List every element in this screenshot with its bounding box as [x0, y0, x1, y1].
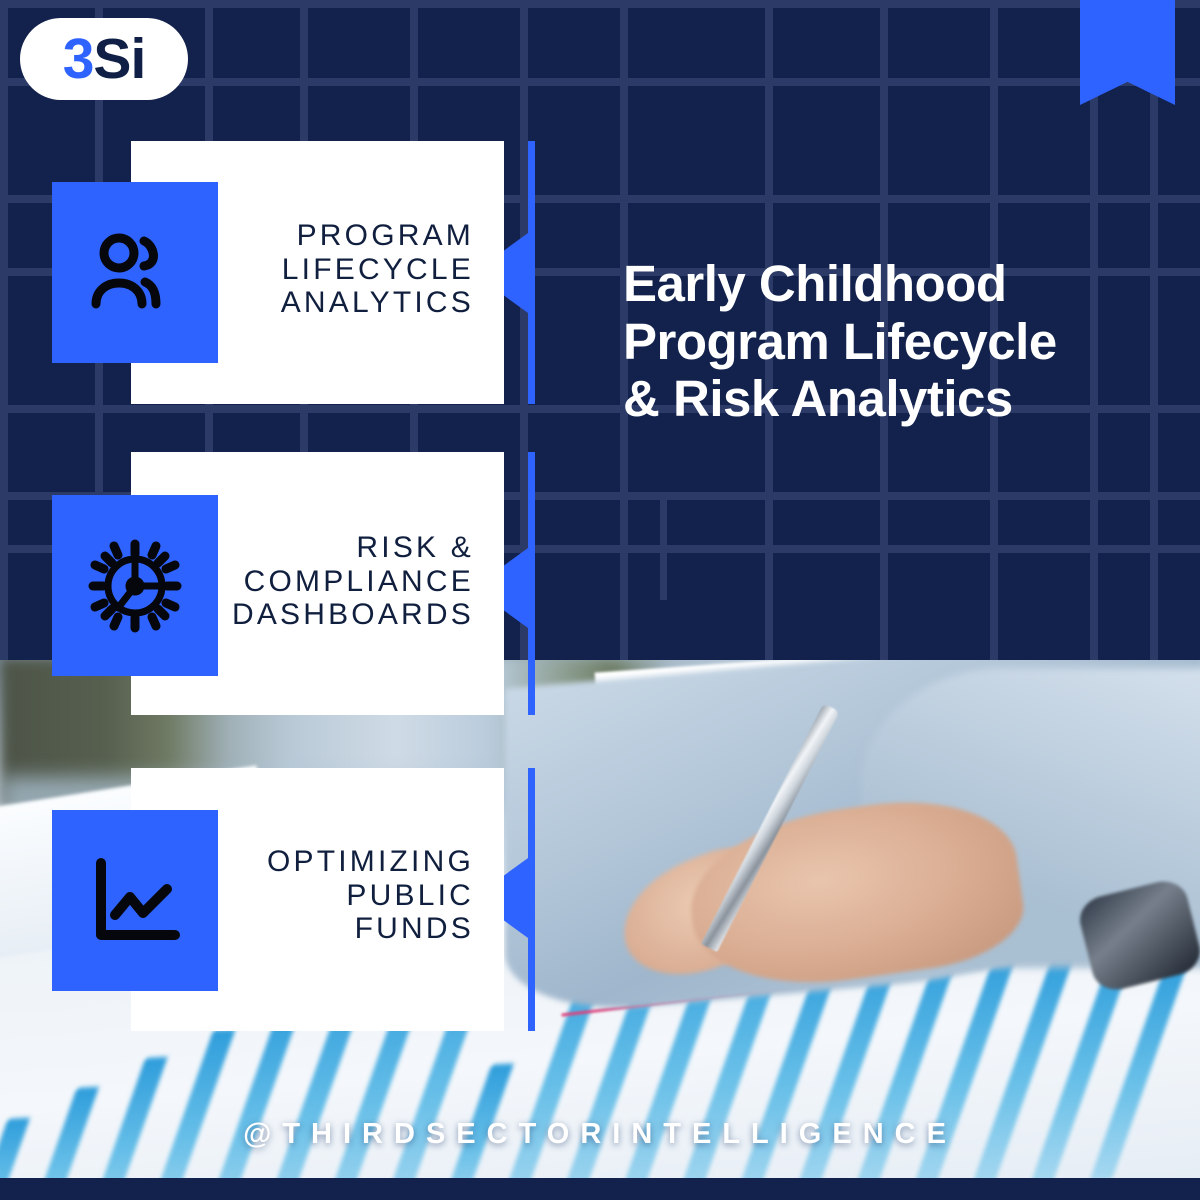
feature-label-3: OPTIMIZING PUBLIC FUNDS: [214, 845, 474, 946]
feature-icon-box-3: [52, 810, 218, 991]
connector-line-1: [528, 141, 535, 404]
infographic-poster: 3Si Early Childhood Program Lifecycle & …: [0, 0, 1200, 1200]
feature-label-2: RISK & COMPLIANCE DASHBOARDS: [194, 531, 474, 632]
bottom-strip: [0, 1178, 1200, 1200]
brand-logo[interactable]: 3Si: [20, 18, 188, 100]
connector-line-3: [528, 768, 535, 1031]
connector-line-2: [528, 452, 535, 715]
grid-line-horizontal: [0, 0, 1200, 8]
social-handle: @THIRDSECTORINTELLIGENCE: [0, 1118, 1200, 1151]
page-title: Early Childhood Program Lifecycle & Risk…: [623, 255, 1163, 428]
feature-label-1: PROGRAM LIFECYCLE ANALYTICS: [224, 219, 474, 320]
gear-icon: [85, 536, 185, 636]
logo-primary-text: 3: [63, 27, 94, 91]
feature-icon-box-1: [52, 182, 218, 363]
logo-secondary-text: Si: [93, 27, 145, 91]
people-icon: [86, 230, 184, 316]
grid-line-vertical: [0, 0, 8, 660]
line-chart-icon: [87, 853, 183, 949]
